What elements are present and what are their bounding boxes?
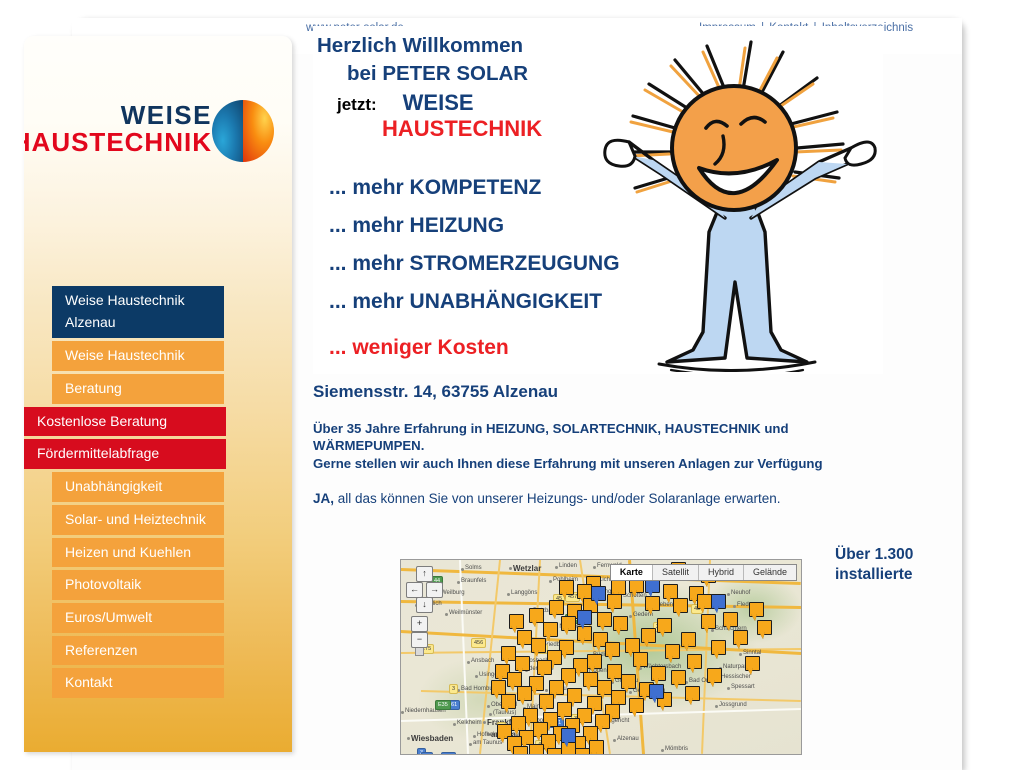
map-marker-pin-blue[interactable]	[591, 586, 606, 601]
map-marker-pin[interactable]	[673, 598, 688, 613]
map-marker-pin[interactable]	[611, 580, 626, 595]
map-marker-pin[interactable]	[517, 686, 532, 701]
map-marker-pin[interactable]	[501, 646, 516, 661]
ja-lead: JA,	[313, 491, 334, 506]
map-marker-pin[interactable]	[517, 630, 532, 645]
map-city-dot	[661, 749, 664, 752]
map-marker-pin[interactable]	[531, 638, 546, 653]
map-city-dot	[545, 689, 548, 692]
map-place-label: Weilburg	[441, 590, 465, 596]
smiling-sun-mascot-icon	[575, 32, 881, 372]
logo-sphere-orange-half	[243, 100, 274, 162]
logo-line-haustechnik: HAUSTECHNIK	[24, 129, 212, 156]
map-city-dot	[715, 705, 718, 708]
map-marker-pin[interactable]	[711, 640, 726, 655]
map-marker-pin[interactable]	[529, 608, 544, 623]
map-city-dot	[475, 675, 478, 678]
map-place-label: Jossgrund	[719, 702, 747, 708]
sidebar-item-7[interactable]: Heizen und Kuehlen	[52, 538, 224, 568]
map-marker-pin[interactable]	[511, 716, 526, 731]
map-city-dot	[593, 566, 596, 569]
logo-sphere-blue-half	[212, 100, 243, 162]
map-marker-pin[interactable]	[657, 618, 672, 633]
map-city-dot	[445, 613, 448, 616]
sidebar-item-6[interactable]: Solar- und Heiztechnik	[52, 505, 224, 535]
sidebar-item-3[interactable]: Kostenlose Beratung	[24, 407, 226, 437]
map-pan-left-icon[interactable]: ←	[406, 582, 423, 598]
map-city-dot	[733, 605, 736, 608]
map-marker-pin-blue[interactable]	[561, 728, 576, 743]
map-zoom-in-icon[interactable]: +	[411, 616, 428, 632]
map-marker-pin[interactable]	[723, 612, 738, 627]
map-marker-pin[interactable]	[697, 594, 712, 609]
map-marker-pin[interactable]	[605, 642, 620, 657]
map-city-dot	[473, 735, 476, 738]
map-marker-pin[interactable]	[749, 602, 764, 617]
map-marker-pin[interactable]	[567, 688, 582, 703]
map-marker-pin[interactable]	[629, 698, 644, 713]
intro-paragraph: Über 35 Jahre Erfahrung in HEIZUNG, SOLA…	[313, 420, 861, 472]
map-place-label: am Taunus	[473, 740, 502, 746]
map-place-label: Braunfels	[461, 578, 486, 584]
map-place-label: Neuhof	[731, 590, 750, 596]
sidebar-item-5[interactable]: Unabhängigkeit	[52, 472, 224, 502]
sidebar: WEISE HAUSTECHNIK Weise Haustechnik Alze…	[24, 36, 292, 752]
map-place-label: Mömbris	[665, 746, 688, 752]
map-place-label: Wiesbaden	[411, 734, 453, 743]
logo-line-weise: WEISE	[24, 102, 212, 129]
map-city-dot	[509, 567, 512, 570]
map-city-dot	[727, 593, 730, 596]
map-marker-pin-blue[interactable]	[711, 594, 726, 609]
map-marker-pin[interactable]	[621, 674, 636, 689]
map-marker-pin[interactable]	[491, 680, 506, 695]
map-marker-pin[interactable]	[549, 600, 564, 615]
map-city-dot	[461, 568, 464, 571]
intro-line-2: Gerne stellen wir auch Ihnen diese Erfah…	[313, 456, 823, 471]
map-marker-pin[interactable]	[589, 740, 604, 755]
map-marker-pin[interactable]	[543, 622, 558, 637]
map-marker-pin[interactable]	[547, 748, 562, 755]
sidebar-nav: Weise Haustechnik AlzenauWeise Haustechn…	[24, 286, 292, 701]
map-marker-pin[interactable]	[687, 654, 702, 669]
map-type-hybrid[interactable]: Hybrid	[699, 565, 744, 580]
sidebar-item-1[interactable]: Weise Haustechnik	[52, 341, 224, 371]
map-marker-pin[interactable]	[625, 638, 640, 653]
map-marker-pin[interactable]	[537, 660, 552, 675]
map-city-dot	[457, 581, 460, 584]
site-logo: WEISE HAUSTECHNIK	[24, 88, 292, 184]
installed-count-note: Über 1.300 installierte	[835, 545, 965, 585]
sidebar-item-4[interactable]: Fördermittelabfrage	[24, 439, 226, 469]
map-marker-pin[interactable]	[681, 632, 696, 647]
map-marker-pin[interactable]	[651, 666, 666, 681]
map-marker-pin[interactable]	[539, 694, 554, 709]
map-marker-pin[interactable]	[663, 584, 678, 599]
map-marker-pin[interactable]	[501, 694, 516, 709]
installed-count-line-1: Über 1.300	[835, 545, 965, 565]
map-city-dot	[407, 737, 410, 740]
map-city-dot	[467, 661, 470, 664]
map-city-dot	[487, 705, 490, 708]
ja-rest: all das können Sie von unserer Heizungs-…	[334, 491, 781, 506]
map-marker-pin[interactable]	[575, 748, 590, 755]
map-city-dot	[629, 615, 632, 618]
map-road-shield: 671	[441, 752, 456, 755]
map-place-label: Linden	[559, 563, 577, 569]
map-pan-up-icon[interactable]: ↑	[416, 566, 433, 582]
map-road-shield: E35	[435, 700, 451, 710]
map-marker-pin[interactable]	[645, 596, 660, 611]
map-place-label: Solms	[465, 565, 482, 571]
map-type-switcher[interactable]: KarteSatellitHybridGelände	[610, 564, 797, 581]
map-city-dot	[401, 711, 404, 714]
map-marker-pin[interactable]	[529, 744, 544, 755]
map-marker-pin[interactable]	[641, 628, 656, 643]
map-marker-pin[interactable]	[757, 620, 772, 635]
map-canvas[interactable]: SolmsWetzlarLindenFernwaldBraunfelsPohlh…	[401, 560, 801, 754]
reference-map[interactable]: SolmsWetzlarLindenFernwaldBraunfelsPohlh…	[400, 559, 802, 755]
map-marker-pin[interactable]	[633, 652, 648, 667]
map-marker-pin[interactable]	[701, 614, 716, 629]
banner-weise-word: WEISE	[403, 90, 474, 116]
map-place-label: Langgöns	[511, 590, 537, 596]
map-road-shield: 65	[421, 752, 433, 755]
map-city-dot	[507, 593, 510, 596]
map-city-dot	[555, 566, 558, 569]
welcome-banner: Herzlich Willkommen bei PETER SOLAR jetz…	[313, 26, 883, 374]
map-city-dot	[549, 580, 552, 583]
map-marker-pin[interactable]	[613, 616, 628, 631]
map-city-dot	[727, 687, 730, 690]
map-marker-pin[interactable]	[665, 644, 680, 659]
map-city-dot	[453, 723, 456, 726]
content-column: Herzlich Willkommen bei PETER SOLAR jetz…	[313, 26, 883, 752]
map-pan-down-icon[interactable]: ↓	[416, 597, 433, 613]
map-type-karte[interactable]: Karte	[611, 565, 653, 580]
map-marker-pin[interactable]	[577, 584, 592, 599]
map-city-dot	[739, 653, 742, 656]
map-zoom-out-icon[interactable]: −	[411, 632, 428, 648]
map-place-label: Alzenau	[617, 736, 639, 742]
map-marker-pin[interactable]	[733, 630, 748, 645]
map-marker-pin[interactable]	[583, 672, 598, 687]
map-marker-pin[interactable]	[509, 614, 524, 629]
map-road-shield: 456	[471, 638, 486, 648]
map-marker-pin[interactable]	[561, 616, 576, 631]
map-marker-pin[interactable]	[597, 612, 612, 627]
sidebar-item-0[interactable]: Weise Haustechnik Alzenau	[52, 286, 224, 338]
map-place-label: Ansbach	[471, 658, 494, 664]
map-marker-pin[interactable]	[559, 580, 574, 595]
map-marker-pin[interactable]	[597, 680, 612, 695]
sidebar-item-10[interactable]: Referenzen	[52, 636, 224, 666]
map-place-label: Kelkheim	[457, 720, 482, 726]
logo-sphere-icon	[212, 100, 274, 162]
map-marker-pin[interactable]	[515, 656, 530, 671]
map-road-shield: 3	[449, 684, 458, 694]
map-marker-pin[interactable]	[685, 686, 700, 701]
map-marker-pin[interactable]	[745, 656, 760, 671]
map-marker-pin-blue[interactable]	[649, 684, 664, 699]
map-marker-pin[interactable]	[611, 690, 626, 705]
map-marker-pin[interactable]	[513, 746, 528, 755]
map-city-dot	[483, 721, 486, 724]
map-marker-pin[interactable]	[557, 702, 572, 717]
map-marker-pin[interactable]	[587, 654, 602, 669]
map-type-satellit[interactable]: Satellit	[653, 565, 699, 580]
sidebar-item-8[interactable]: Photovoltaik	[52, 570, 224, 600]
map-city-dot	[711, 629, 714, 632]
map-place-label: Wetzlar	[513, 564, 541, 573]
map-marker-pin[interactable]	[607, 664, 622, 679]
map-marker-pin[interactable]	[707, 668, 722, 683]
page-title-address: Siemensstr. 14, 63755 Alzenau	[313, 382, 883, 402]
map-city-dot	[489, 713, 492, 716]
map-marker-pin[interactable]	[607, 594, 622, 609]
map-city-dot	[469, 743, 472, 746]
banner-jetzt-label: jetzt:	[337, 95, 377, 115]
installed-count-line-2: installierte	[835, 565, 965, 585]
intro-line-1: Über 35 Jahre Erfahrung in HEIZUNG, SOLA…	[313, 421, 789, 453]
sidebar-item-11[interactable]: Kontakt	[52, 668, 224, 698]
map-type-gelände[interactable]: Gelände	[744, 565, 796, 580]
map-city-dot	[629, 691, 632, 694]
logo-wordmark: WEISE HAUSTECHNIK	[24, 102, 212, 157]
map-marker-pin[interactable]	[549, 680, 564, 695]
map-place-label: Spessart	[731, 684, 755, 690]
map-marker-pin[interactable]	[671, 670, 686, 685]
map-marker-pin-blue[interactable]	[577, 610, 592, 625]
map-pan-right-icon[interactable]: →	[426, 582, 443, 598]
sidebar-item-2[interactable]: Beratung	[52, 374, 224, 404]
map-city-dot	[613, 739, 616, 742]
map-place-label: Hofheim	[477, 732, 499, 738]
ja-paragraph: JA, all das können Sie von unserer Heizu…	[313, 490, 883, 508]
map-marker-pin[interactable]	[507, 672, 522, 687]
map-place-label: Weilmünster	[449, 610, 482, 616]
sidebar-item-9[interactable]: Euros/Umwelt	[52, 603, 224, 633]
